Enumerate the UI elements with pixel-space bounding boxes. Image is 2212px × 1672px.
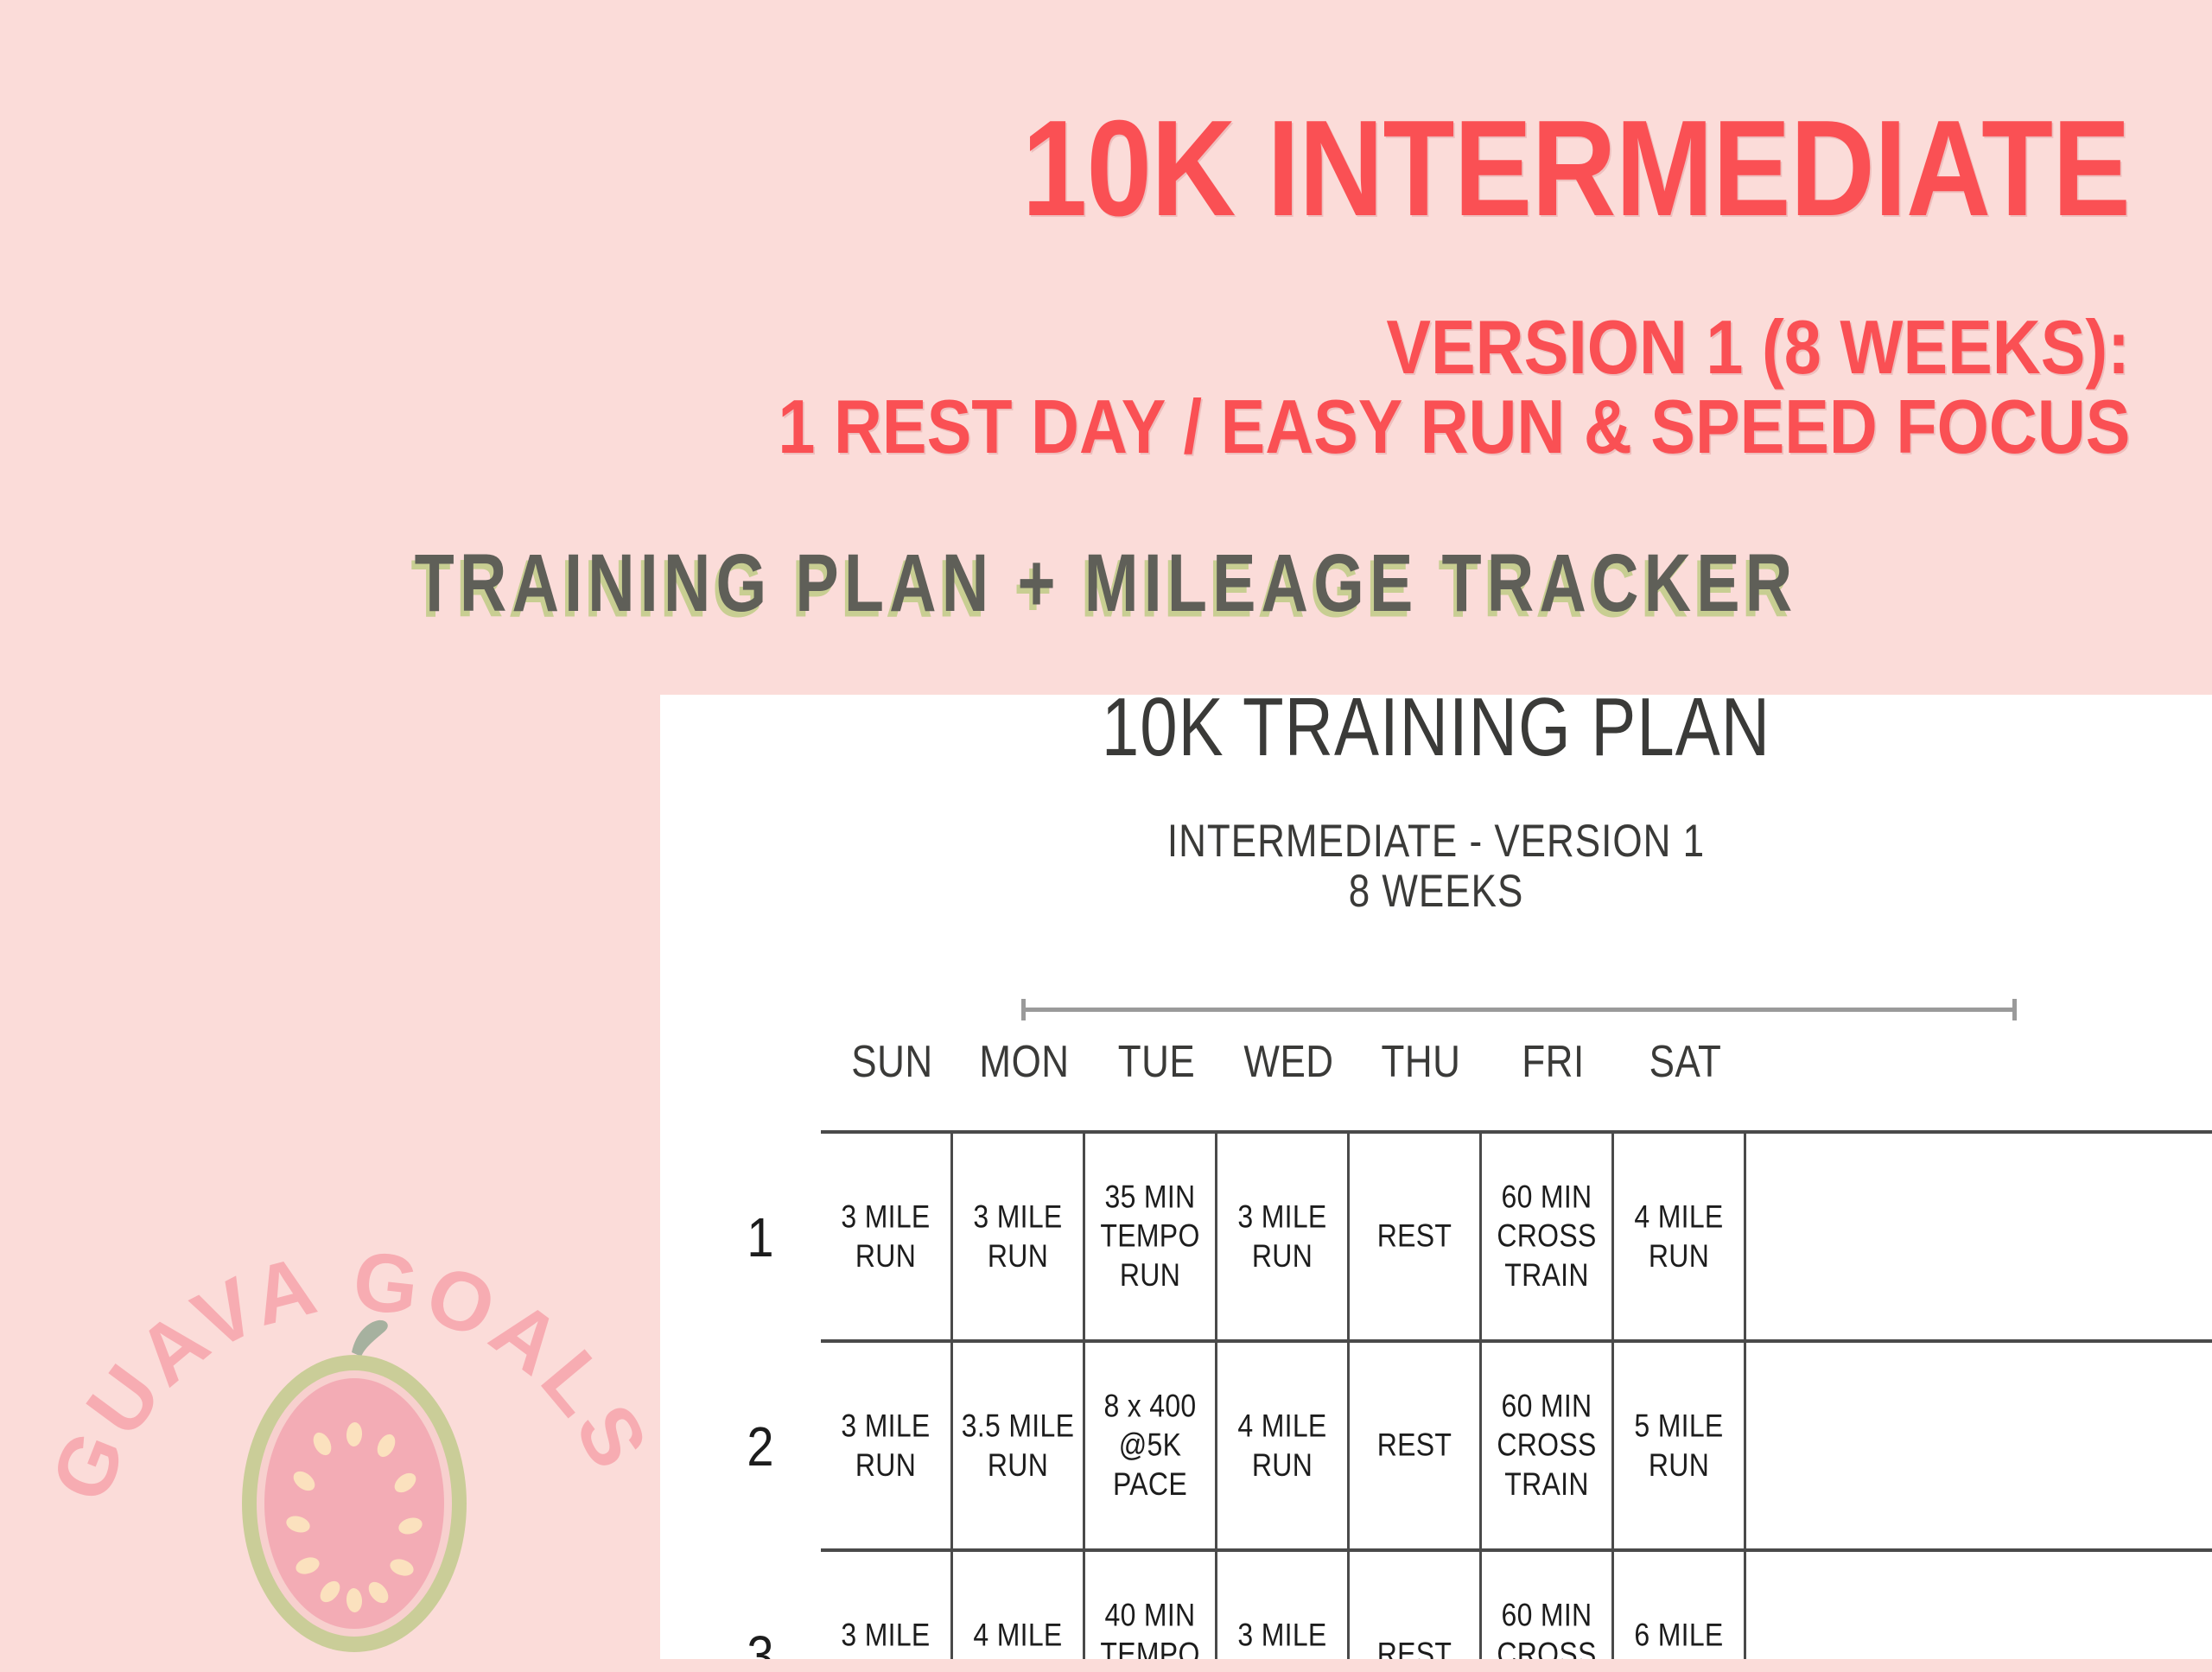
workout-cell[interactable]: 3 MILE RUN — [821, 1343, 953, 1548]
workout-label: 60 MIN CROSS TRAIN — [1493, 1178, 1599, 1295]
day-header-sun: SUN — [826, 1037, 958, 1088]
table-row: 33 MILE RUN4 MILE RUN40 MIN TEMPO RUN3 M… — [821, 1552, 2212, 1659]
workout-cell[interactable]: 60 MIN CROSS TRAIN — [1482, 1552, 1614, 1659]
workout-label: 3 MILE RUN — [837, 1198, 933, 1276]
table-row: 23 MILE RUN3.5 MILE RUN8 x 400 @5K PACE4… — [821, 1343, 2212, 1552]
workout-cell[interactable]: 5 MILE RUN — [1614, 1343, 1746, 1548]
workout-cell[interactable]: 3 MILE RUN — [821, 1552, 953, 1659]
workout-label: 8 x 400 @5K PACE — [1085, 1387, 1215, 1504]
workout-cell[interactable]: 6 MILE RUN — [1614, 1552, 1746, 1659]
day-header-fri: FRI — [1487, 1037, 1619, 1088]
day-header-mon: MON — [958, 1037, 1090, 1088]
workout-cell[interactable]: 40 MIN TEMPO RUN — [1085, 1552, 1217, 1659]
training-plan-grid: 13 MILE RUN3 MILE RUN35 MIN TEMPO RUN3 M… — [821, 1130, 2212, 1659]
day-header-tue: TUE — [1090, 1037, 1223, 1088]
workout-label: 3 MILE RUN — [837, 1407, 933, 1485]
guava-goals-logo: GUAVA GOALS — [52, 1149, 657, 1668]
workout-cell[interactable]: 4 MILE RUN — [1614, 1134, 1746, 1339]
card-duration: 8 WEEKS — [660, 866, 2212, 918]
workout-label: 60 MIN CROSS TRAIN — [1493, 1596, 1599, 1659]
day-header-thu: THU — [1355, 1037, 1487, 1088]
hero-strip-text: TRAINING PLAN + MILEAGE TRACKER — [0, 536, 2212, 630]
workout-label: 3 MILE RUN — [1234, 1198, 1330, 1276]
workout-label: 6 MILE RUN — [1630, 1616, 1726, 1659]
workout-cell[interactable]: 4 MILE RUN — [953, 1552, 1085, 1659]
workout-cell[interactable]: 8 x 400 @5K PACE — [1085, 1343, 1217, 1548]
day-header-row: SUNMONTUEWEDTHUFRISAT — [821, 1037, 2212, 1089]
workout-label: 3 MILE RUN — [969, 1198, 1065, 1276]
week-number: 2 — [726, 1327, 795, 1564]
workout-label: 3.5 MILE RUN — [958, 1407, 1077, 1485]
workout-cell[interactable]: 3 MILE RUN — [1217, 1552, 1350, 1659]
workout-cell[interactable]: 3 MILE RUN — [953, 1134, 1085, 1339]
workout-label: 4 MILE RUN — [969, 1616, 1065, 1659]
training-plan-card: 10K TRAINING PLAN INTERMEDIATE - VERSION… — [660, 695, 2212, 1659]
workout-label: 60 MIN CROSS TRAIN — [1493, 1387, 1599, 1504]
workout-label: 40 MIN TEMPO RUN — [1096, 1596, 1203, 1659]
table-row: 13 MILE RUN3 MILE RUN35 MIN TEMPO RUN3 M… — [821, 1134, 2212, 1343]
workout-label: 4 MILE RUN — [1234, 1407, 1330, 1485]
workout-label: 5 MILE RUN — [1630, 1407, 1726, 1485]
workout-label: REST — [1374, 1635, 1456, 1659]
day-header-wed: WED — [1223, 1037, 1355, 1088]
divider-cap-right — [2012, 999, 2017, 1020]
workout-label: REST — [1374, 1217, 1456, 1256]
card-title: 10K TRAINING PLAN — [660, 695, 2212, 775]
workout-cell[interactable]: 35 MIN TEMPO RUN — [1085, 1134, 1217, 1339]
workout-cell[interactable]: 4 MILE RUN — [1217, 1343, 1350, 1548]
header-divider — [1021, 999, 2017, 1020]
workout-cell[interactable]: 3 MILE RUN — [821, 1134, 953, 1339]
week-number: 1 — [726, 1118, 795, 1355]
day-header-sat: SAT — [1619, 1037, 1751, 1088]
card-subtitle: INTERMEDIATE - VERSION 1 — [660, 816, 2212, 868]
workout-label: REST — [1374, 1426, 1456, 1465]
guava-logo-svg: GUAVA GOALS — [52, 1149, 657, 1668]
divider-bar — [1021, 1008, 2017, 1012]
hero-title: 10K INTERMEDIATE — [1022, 102, 2130, 236]
workout-label: 4 MILE RUN — [1630, 1198, 1726, 1276]
workout-cell[interactable]: 60 MIN CROSS TRAIN — [1482, 1134, 1614, 1339]
workout-cell[interactable]: REST — [1350, 1134, 1482, 1339]
workout-label: 3 MILE RUN — [837, 1616, 933, 1659]
workout-cell[interactable]: 60 MIN CROSS TRAIN — [1482, 1343, 1614, 1548]
workout-cell[interactable]: 3 MILE RUN — [1217, 1134, 1350, 1339]
workout-label: 35 MIN TEMPO RUN — [1096, 1178, 1203, 1295]
workout-cell[interactable]: 3.5 MILE RUN — [953, 1343, 1085, 1548]
workout-cell[interactable]: REST — [1350, 1343, 1482, 1548]
workout-label: 3 MILE RUN — [1234, 1616, 1330, 1659]
week-number: 3 — [726, 1536, 795, 1659]
hero-banner: 10K INTERMEDIATE VERSION 1 (8 WEEKS): 1 … — [0, 0, 2212, 695]
workout-cell[interactable]: REST — [1350, 1552, 1482, 1659]
hero-subtitle-line1: VERSION 1 (8 WEEKS): — [1386, 309, 2130, 385]
hero-subtitle-line2: 1 REST DAY / EASY RUN & SPEED FOCUS — [778, 389, 2130, 465]
